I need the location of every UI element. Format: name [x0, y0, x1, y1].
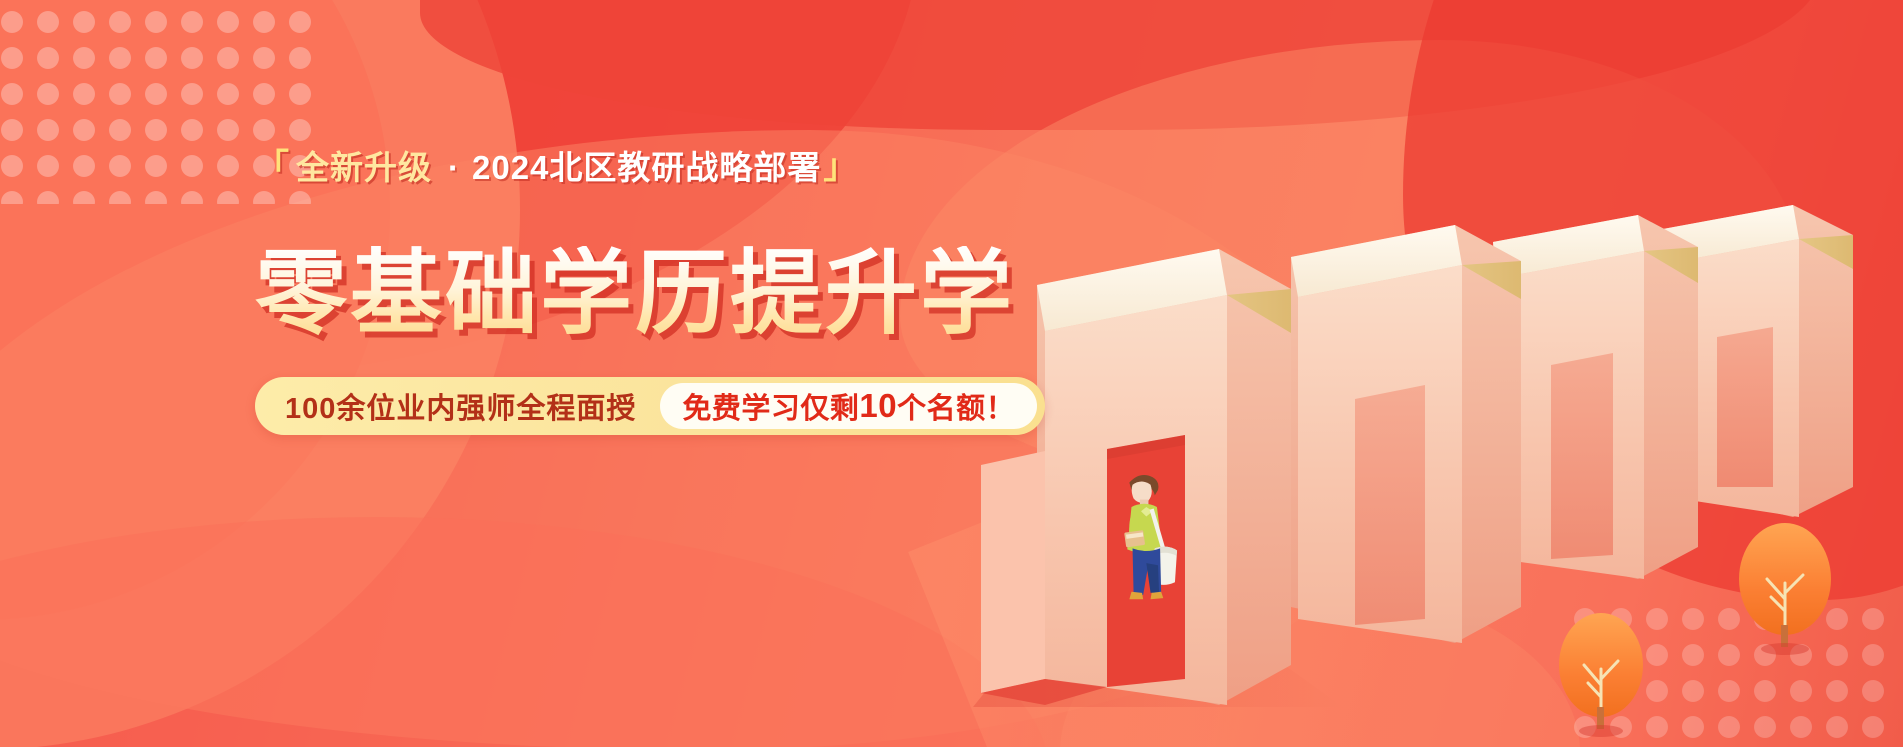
eyebrow-gold-text: 全新升级: [292, 151, 436, 184]
pill-main-text: 100余位业内强师全程面授: [285, 385, 660, 427]
eyebrow-separator: ·: [436, 151, 472, 184]
pill-highlight-number: 10: [859, 387, 897, 425]
banner-copy: 「 全新升级 · 2024北区教研战略部署 」 零基础学历提升学霸班 100余位…: [255, 150, 1015, 435]
book-arch-2: [1291, 225, 1521, 643]
banner-headline: 零基础学历提升学霸班: [255, 246, 1015, 344]
tree-right: [1739, 523, 1831, 655]
banner-eyebrow: 「 全新升级 · 2024北区教研战略部署 」: [255, 150, 1015, 184]
promo-banner: 「 全新升级 · 2024北区教研战略部署 」 零基础学历提升学霸班 100余位…: [0, 0, 1903, 747]
eyebrow-bracket-right: 」: [823, 150, 858, 184]
tree-left: [1559, 613, 1643, 737]
pill-highlight-badge: 免费学习仅剩 10 个名额！: [660, 383, 1037, 429]
pill-highlight-prefix: 免费学习仅剩: [682, 385, 859, 427]
book-arch-3: [1493, 215, 1698, 579]
eyebrow-bracket-left: 「: [255, 150, 290, 184]
banner-feature-pill: 100余位业内强师全程面授 免费学习仅剩 10 个名额！: [255, 377, 1045, 435]
pill-highlight-suffix: 个名额！: [897, 385, 1015, 427]
eyebrow-white-text: 2024北区教研战略部署: [472, 151, 821, 184]
